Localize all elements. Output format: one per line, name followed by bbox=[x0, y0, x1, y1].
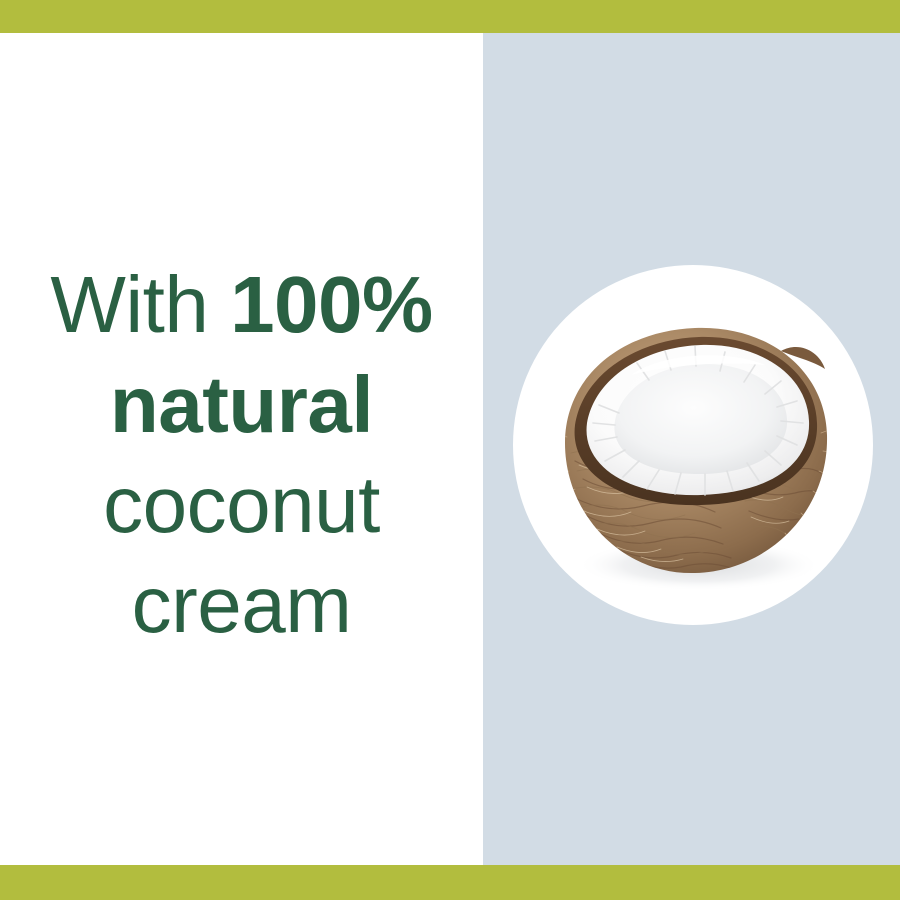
headline-line-1-part-1: With bbox=[50, 260, 230, 349]
headline-line-1-part-2: 100% bbox=[230, 260, 433, 349]
headline-line-3-part-1: coconut bbox=[103, 460, 380, 549]
top-accent-band bbox=[0, 0, 900, 33]
left-white-panel: With 100% natural coconut cream bbox=[0, 33, 483, 865]
coconut-half-icon bbox=[513, 265, 873, 625]
headline-block: With 100% natural coconut cream bbox=[0, 255, 483, 655]
headline-line-4-part-1: cream bbox=[132, 560, 352, 649]
headline-line-4: cream bbox=[0, 555, 483, 655]
headline-line-2-part-1: natural bbox=[110, 360, 373, 449]
headline-line-1: With 100% bbox=[0, 255, 483, 355]
headline-line-2: natural bbox=[0, 355, 483, 455]
promo-card: With 100% natural coconut cream bbox=[0, 0, 900, 900]
coconut-image-stage bbox=[513, 265, 873, 625]
headline-line-3: coconut bbox=[0, 455, 483, 555]
bottom-accent-band bbox=[0, 865, 900, 900]
